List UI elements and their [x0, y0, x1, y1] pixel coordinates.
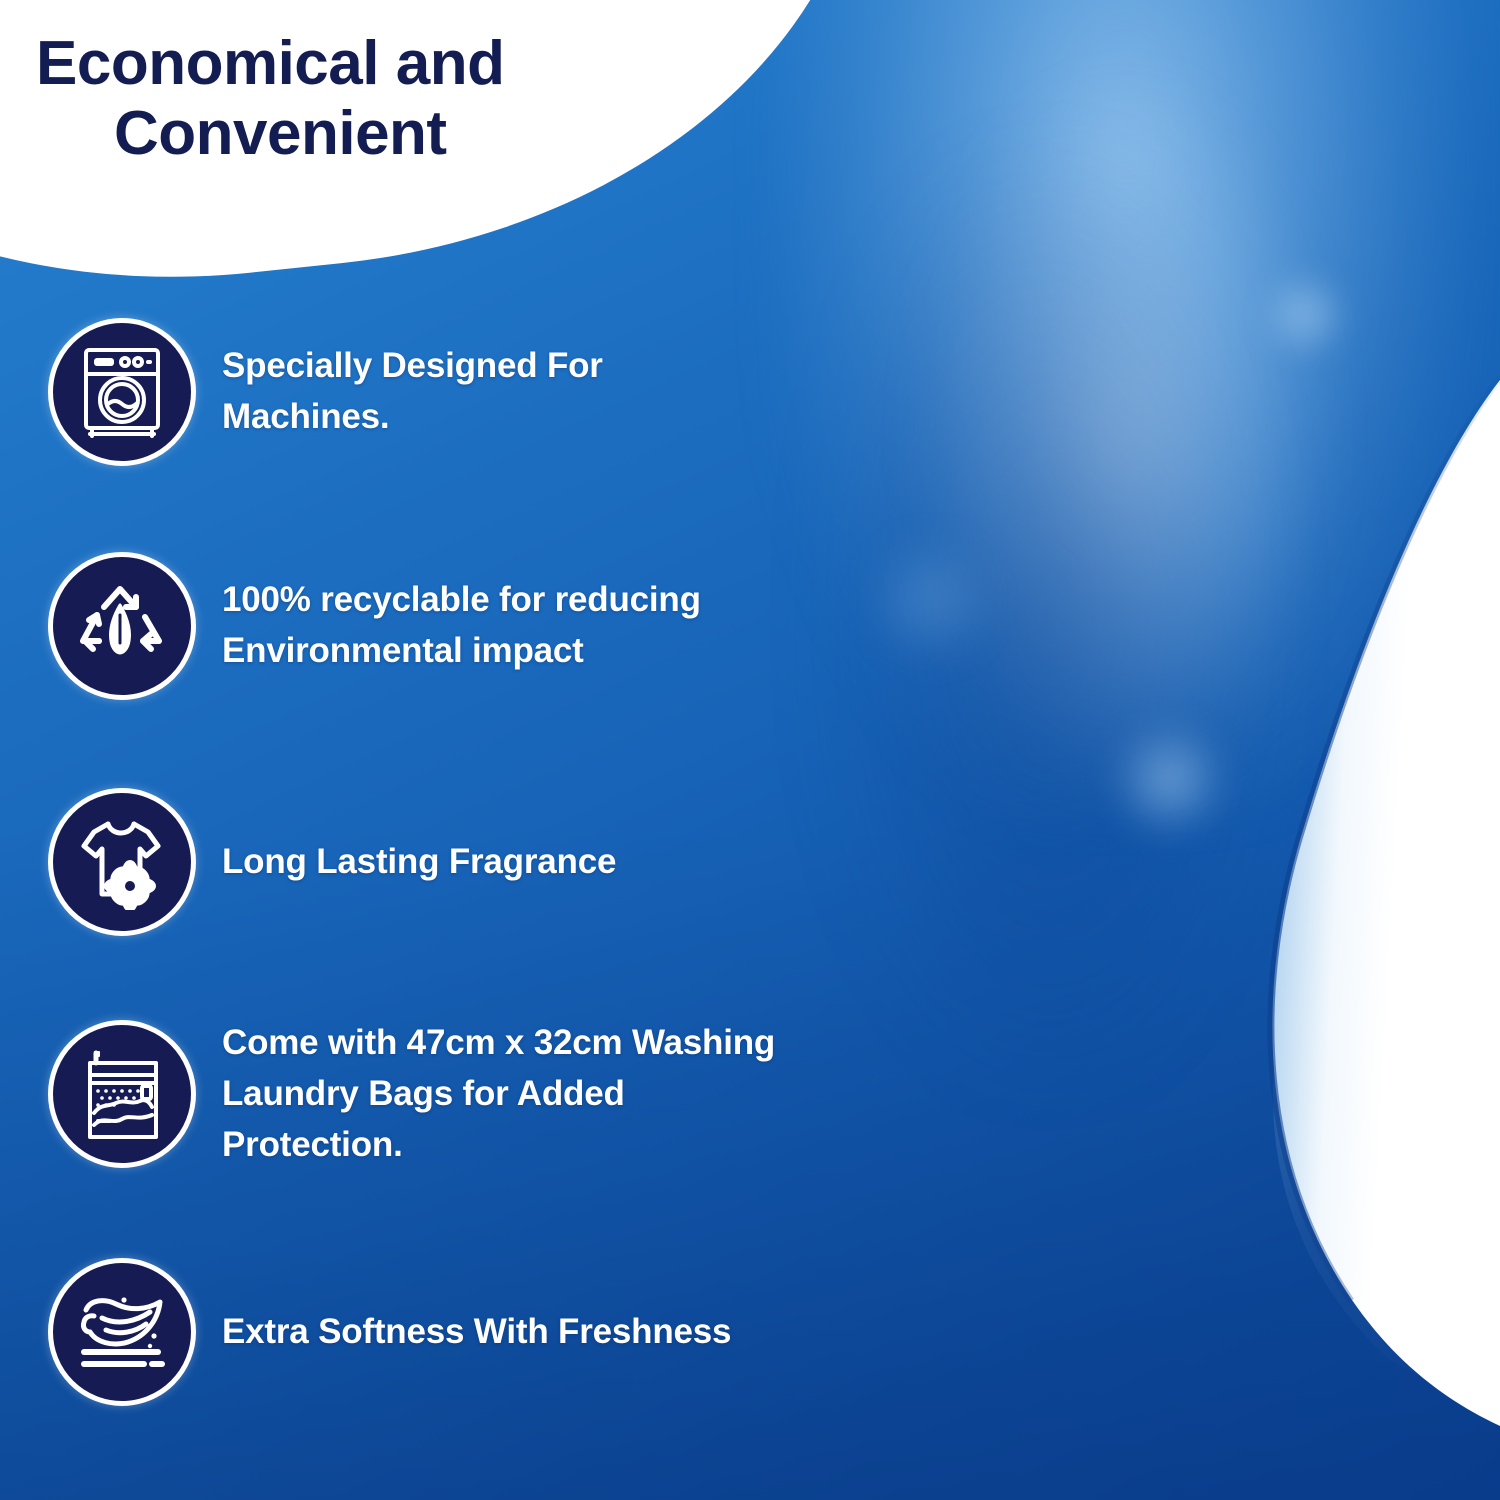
recycle-bottle-icon: [48, 552, 196, 700]
feature-item: Specially Designed For Machines.: [48, 318, 742, 466]
feature-item: Come with 47cm x 32cm Washing Laundry Ba…: [48, 1018, 782, 1170]
feature-item: 100% recyclable for reducing Environment…: [48, 552, 742, 700]
feature-label: Long Lasting Fragrance: [222, 837, 616, 888]
feature-label: 100% recyclable for reducing Environment…: [222, 575, 742, 677]
feature-list: Specially Designed For Machines.: [0, 0, 1500, 1500]
feather-folded-fabric-icon: [48, 1258, 196, 1406]
feature-label: Come with 47cm x 32cm Washing Laundry Ba…: [222, 1018, 782, 1170]
tshirt-flower-icon: [48, 788, 196, 936]
feature-item: Extra Softness With Freshness: [48, 1258, 731, 1406]
product-feature-poster: Economical and Convenient: [0, 0, 1500, 1500]
feature-label: Extra Softness With Freshness: [222, 1307, 731, 1358]
feature-item: Long Lasting Fragrance: [48, 788, 616, 936]
feature-label: Specially Designed For Machines.: [222, 341, 742, 443]
washing-machine-icon: [48, 318, 196, 466]
mesh-laundry-bag-icon: [48, 1020, 196, 1168]
